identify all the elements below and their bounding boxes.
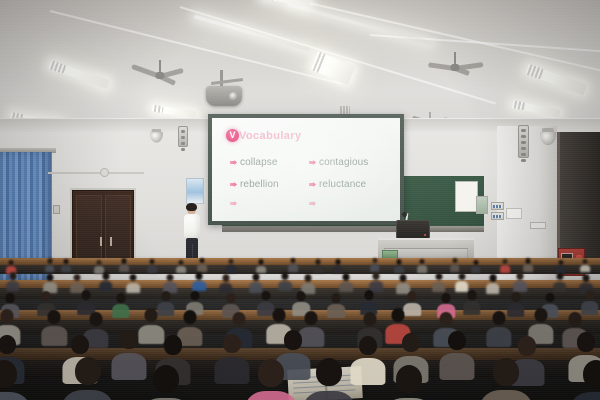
- audience-member: [70, 274, 84, 289]
- audience-member: [94, 260, 104, 271]
- audience-member: [394, 259, 404, 270]
- audience-member: [99, 272, 113, 287]
- audience-head: [0, 360, 17, 388]
- audience-head: [458, 273, 465, 281]
- audience-member: [579, 274, 593, 289]
- ceiling-light-icon: [152, 105, 197, 119]
- audience-head: [153, 365, 179, 393]
- audience-head: [226, 293, 235, 303]
- audience-shoulders: [523, 264, 533, 272]
- bullet-arrow-icon: [309, 201, 316, 206]
- audience-head: [419, 259, 424, 264]
- audience-shoulders: [119, 264, 129, 272]
- audience-shoulders: [333, 266, 343, 274]
- audience-shoulders: [417, 265, 427, 273]
- audience-head: [97, 260, 102, 265]
- audience-member: [450, 258, 460, 269]
- audience-member: [439, 331, 475, 369]
- audience-member: [486, 274, 500, 289]
- audience-shoulders: [339, 282, 353, 293]
- audience-head: [46, 274, 53, 282]
- audience-member: [327, 293, 345, 312]
- audience-member: [157, 291, 175, 310]
- audience-member: [313, 259, 323, 270]
- wall-poster-blue: [186, 178, 204, 204]
- slide-word-item: [230, 201, 307, 206]
- audience-shoulders: [246, 391, 297, 400]
- audience-member: [507, 292, 525, 311]
- audience-head: [448, 331, 466, 350]
- audience-member: [463, 290, 481, 309]
- audience-member: [226, 259, 236, 270]
- audience-head: [582, 274, 589, 282]
- audience-member: [581, 290, 599, 309]
- audience-member: [119, 258, 129, 269]
- audience-member: [192, 272, 206, 287]
- ceiling: [0, 0, 600, 132]
- audience-head: [556, 273, 563, 281]
- audience-member: [77, 290, 95, 309]
- audience-shoulders: [463, 301, 481, 315]
- audience-head: [1, 309, 14, 323]
- audience-member: [147, 259, 157, 270]
- audience-head: [516, 272, 523, 280]
- audience-head: [9, 260, 14, 265]
- audience-head: [391, 308, 404, 322]
- rear-doorway: [557, 132, 600, 262]
- audience-member: [197, 258, 207, 269]
- audience-member: [580, 259, 590, 270]
- audience-head: [102, 272, 109, 280]
- slide-word-item: rebellion: [230, 179, 307, 190]
- audience-head: [473, 260, 478, 265]
- audience-shoulders: [219, 283, 233, 294]
- audience-member: [257, 291, 275, 310]
- audience-member: [369, 272, 383, 287]
- audience-head: [585, 290, 594, 300]
- audience-member: [513, 272, 527, 287]
- audience-member: [301, 274, 315, 289]
- audience-head: [545, 293, 554, 303]
- slide-title: Vocabulary: [239, 130, 302, 142]
- audience-member: [292, 291, 310, 310]
- slide-word: reluctance: [319, 179, 366, 190]
- audience-shoulders: [176, 266, 186, 274]
- audience-member: [383, 365, 435, 400]
- audience-head: [534, 308, 547, 322]
- audience-head: [408, 291, 417, 301]
- microphone-icon: [402, 212, 407, 217]
- audience-head: [252, 273, 259, 281]
- slide-badge-icon: V: [226, 129, 239, 142]
- audience-head: [440, 312, 453, 326]
- audience-head: [233, 312, 246, 326]
- audience-shoulders: [198, 264, 208, 272]
- audience-member: [480, 358, 532, 400]
- audience-head: [568, 312, 581, 326]
- audience-member: [303, 358, 355, 400]
- audience-shoulders: [112, 304, 130, 318]
- audience-shoulders: [471, 266, 481, 274]
- audience-head: [316, 358, 342, 386]
- audience-head: [397, 259, 402, 264]
- audience-head: [282, 272, 289, 280]
- audience-head: [47, 258, 52, 263]
- audience-head: [511, 292, 520, 302]
- audience-member: [256, 259, 266, 270]
- audience-shoulders: [6, 281, 20, 292]
- audience-member: [333, 259, 343, 270]
- audience-shoulders: [256, 266, 266, 274]
- audience-head: [200, 258, 205, 263]
- audience-head: [489, 274, 496, 282]
- audience-member: [350, 336, 386, 374]
- audience-head: [363, 312, 376, 326]
- audience-member: [500, 259, 510, 270]
- audience-head: [402, 333, 420, 352]
- audience-head: [222, 274, 229, 282]
- bullet-arrow-icon: [309, 160, 316, 165]
- wall-socket-icon: [53, 205, 60, 214]
- audience-head: [297, 291, 306, 301]
- audience-shoulders: [62, 390, 113, 400]
- audience-head: [64, 259, 69, 264]
- audience-head: [120, 330, 138, 349]
- audience-member: [126, 274, 140, 289]
- slide-word-item: reluctance: [309, 179, 386, 190]
- slide-word-item: collapse: [230, 157, 307, 168]
- slide-word-list: collapse contagious rebellion reluctance: [226, 157, 386, 206]
- audience-shoulders: [0, 392, 29, 400]
- presentation-slide: V Vocabulary collapse contagious rebelli…: [212, 118, 400, 221]
- audience-member: [0, 309, 20, 336]
- slide-word-item: contagious: [309, 157, 386, 168]
- audience-shoulders: [513, 281, 527, 292]
- audience-member: [528, 308, 554, 335]
- audience-head: [42, 291, 51, 301]
- audience-head: [223, 334, 241, 353]
- audience-member: [62, 357, 114, 400]
- audience-member: [176, 260, 186, 271]
- audience-shoulders: [45, 265, 55, 273]
- audience-member: [222, 293, 240, 312]
- audience-head: [284, 330, 302, 349]
- audience-head: [121, 258, 126, 263]
- audience-member: [61, 259, 71, 270]
- audience-member: [570, 360, 600, 400]
- breaker-box: [491, 212, 504, 220]
- audience-member: [0, 360, 30, 400]
- audience-member: [288, 258, 298, 269]
- audience-member: [417, 259, 427, 270]
- audience-shoulders: [314, 266, 324, 274]
- audience-head: [179, 260, 184, 265]
- desk-row: [0, 280, 600, 288]
- ceiling-light-icon: [287, 3, 433, 46]
- audience-head: [558, 260, 563, 265]
- audience-head: [261, 291, 270, 301]
- audience-shoulders: [486, 283, 500, 294]
- wall-label-card: [506, 208, 522, 219]
- audience-head: [503, 259, 508, 264]
- audience-head: [399, 274, 406, 282]
- audience-member: [471, 260, 481, 271]
- audience-shoulders: [328, 304, 346, 318]
- audience-head: [291, 258, 296, 263]
- audience-head: [493, 311, 506, 325]
- audience-member: [249, 273, 263, 288]
- bullet-arrow-icon: [230, 160, 237, 165]
- audience-shoulders: [570, 392, 600, 400]
- audience-shoulders: [304, 391, 355, 400]
- audience-member: [432, 273, 446, 288]
- audience-shoulders: [61, 265, 71, 273]
- wall-speaker-icon: [518, 125, 529, 158]
- audience-head: [196, 272, 203, 280]
- audience-head: [332, 293, 341, 303]
- audience-head: [452, 258, 457, 263]
- classroom-photo: V Vocabulary collapse contagious rebelli…: [0, 0, 600, 400]
- audience-member: [553, 273, 567, 288]
- wall-notice-poster: [455, 181, 478, 212]
- audience-member: [43, 274, 57, 289]
- audience-shoulders: [432, 282, 446, 293]
- audience-head: [0, 335, 16, 354]
- audience-shoulders: [500, 265, 510, 273]
- audience-shoulders: [553, 282, 567, 293]
- audience-head: [75, 357, 101, 385]
- audience-member: [186, 291, 204, 310]
- audience-member: [437, 293, 455, 312]
- audience-member: [41, 310, 67, 337]
- audience-member: [6, 272, 20, 287]
- audience-member: [140, 365, 192, 400]
- audience-head: [583, 259, 588, 264]
- audience-member: [111, 330, 147, 368]
- bullet-arrow-icon: [230, 201, 237, 206]
- audience-head: [372, 272, 379, 280]
- audience-head: [364, 290, 373, 300]
- audience-head: [130, 274, 137, 282]
- audience-member: [370, 258, 380, 269]
- audience-member: [37, 291, 55, 310]
- audience-head: [396, 365, 422, 393]
- audience-head: [161, 291, 170, 301]
- audience-shoulders: [351, 358, 386, 385]
- audience-shoulders: [126, 283, 140, 294]
- bullet-arrow-icon: [309, 182, 316, 187]
- ceiling-light-icon: [525, 64, 587, 96]
- audience-head: [149, 259, 154, 264]
- breaker-box: [491, 202, 504, 210]
- ceiling-light-icon: [194, 15, 310, 52]
- audience-head: [442, 293, 451, 303]
- wall-speaker-icon: [178, 126, 188, 147]
- podium-monitor: [396, 220, 430, 239]
- audience-head: [258, 259, 263, 264]
- audience-member: [385, 308, 411, 335]
- audience-head: [183, 310, 196, 324]
- audience-head: [48, 310, 61, 324]
- chalk-tray: [222, 226, 484, 232]
- audience-shoulders: [99, 281, 113, 292]
- audience-head: [229, 259, 234, 264]
- audience-member: [6, 260, 16, 271]
- audience-member: [455, 273, 469, 288]
- audience-head: [359, 336, 377, 355]
- audience-member: [219, 274, 233, 289]
- audience-head: [190, 291, 199, 301]
- audience-shoulders: [450, 264, 460, 272]
- audience-head: [6, 293, 15, 303]
- audience-head: [526, 258, 531, 263]
- audience-head: [145, 308, 158, 322]
- audience-member: [556, 260, 566, 271]
- slide-title-row: V Vocabulary: [226, 129, 386, 142]
- ceiling-light-icon: [512, 100, 561, 118]
- wall-fitting-icon: [100, 168, 109, 177]
- audience-shoulders: [370, 264, 380, 272]
- audience-shoulders: [227, 265, 237, 273]
- audience-head: [518, 336, 536, 355]
- audience-member: [163, 274, 177, 289]
- audience-shoulders: [279, 281, 293, 292]
- projection-screen-frame: V Vocabulary collapse contagious rebelli…: [208, 114, 404, 225]
- audience-head: [316, 259, 321, 264]
- projector-icon: [206, 86, 242, 106]
- audience-head: [372, 258, 377, 263]
- slide-word: collapse: [240, 157, 278, 168]
- audience-head: [342, 273, 349, 281]
- audience-head: [272, 308, 285, 322]
- audience-head: [82, 290, 91, 300]
- audience-head: [74, 274, 81, 282]
- audience-member: [523, 258, 533, 269]
- audience-head: [583, 360, 600, 388]
- wall-plate-icon: [530, 222, 546, 229]
- audience-member: [360, 290, 378, 309]
- ceiling-light-icon: [48, 60, 110, 89]
- bullet-arrow-icon: [230, 182, 237, 187]
- audience-head: [116, 293, 125, 303]
- slide-word: contagious: [319, 157, 368, 168]
- audience-head: [164, 335, 182, 354]
- audience-shoulders: [147, 265, 157, 273]
- audience-head: [89, 312, 102, 326]
- audience-head: [305, 311, 318, 325]
- audience-member: [112, 293, 130, 312]
- audience-member: [245, 359, 297, 400]
- audience-head: [493, 358, 519, 386]
- audience-member: [278, 272, 292, 287]
- audience-head: [71, 335, 89, 354]
- audience-member: [396, 274, 410, 289]
- audience-shoulders: [288, 264, 298, 272]
- audience-head: [305, 274, 312, 282]
- audience-shoulders: [439, 353, 474, 380]
- audience-head: [335, 259, 340, 264]
- electrical-panel: [476, 196, 488, 214]
- audience-head: [9, 272, 16, 280]
- audience-shoulders: [481, 390, 532, 400]
- audience-member: [177, 310, 203, 337]
- audience-head: [167, 274, 174, 282]
- audience-head: [467, 290, 476, 300]
- audience-member: [339, 273, 353, 288]
- slide-word-item: [309, 201, 386, 206]
- audience-member: [45, 258, 55, 269]
- audience-member: [486, 311, 512, 338]
- audience-shoulders: [394, 266, 404, 274]
- audience-shoulders: [580, 265, 590, 273]
- projection-screen: V Vocabulary collapse contagious rebelli…: [212, 118, 400, 221]
- slide-word: rebellion: [240, 179, 279, 190]
- wall-trim: [48, 172, 144, 174]
- audience-head: [258, 359, 284, 387]
- audience-head: [435, 273, 442, 281]
- audience-head: [577, 332, 595, 351]
